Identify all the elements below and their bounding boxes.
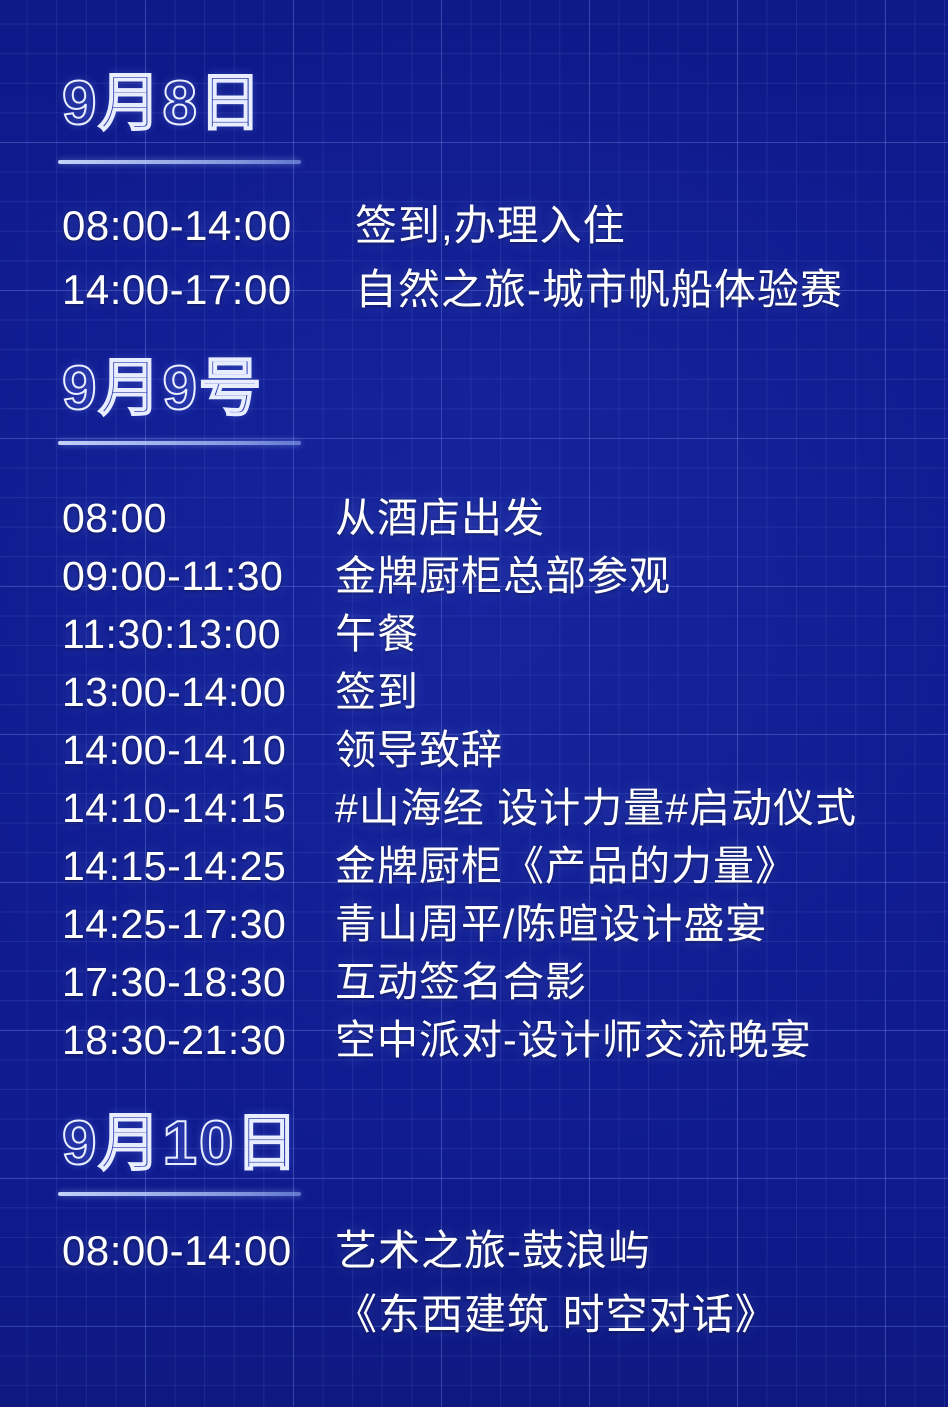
row-event: 从酒店出发	[335, 484, 545, 544]
row-time: 09:00-11:30	[62, 553, 335, 600]
row-time: 08:00-14:00	[62, 1227, 335, 1275]
schedule-poster: 9月8日 08:00-14:00 签到,办理入住 14:00-17:00 自然之…	[0, 0, 948, 1407]
row-event: 青山周平/陈暄设计盛宴	[335, 890, 767, 950]
row-event: 《东西建筑 时空对话》	[335, 1281, 778, 1342]
row-time: 14:10-14:15	[62, 785, 335, 832]
schedule-row: 14:00-17:00 自然之旅-城市帆船体验赛	[62, 256, 843, 317]
schedule-row: 《东西建筑 时空对话》	[62, 1281, 778, 1342]
schedule-row: 14:10-14:15 #山海经 设计力量#启动仪式	[62, 774, 857, 834]
day-heading-sept-8: 9月8日	[62, 52, 263, 142]
row-event: #山海经 设计力量#启动仪式	[335, 774, 857, 834]
row-event: 金牌厨柜《产品的力量》	[335, 832, 797, 892]
divider-sept-10	[58, 1192, 301, 1196]
schedule-row: 08:00-14:00 艺术之旅-鼓浪屿	[62, 1217, 651, 1278]
day-heading-sept-9: 9月9号	[62, 337, 263, 427]
schedule-row: 13:00-14:00 签到	[62, 658, 419, 718]
row-event: 自然之旅-城市帆船体验赛	[355, 256, 843, 317]
schedule-row: 14:15-14:25 金牌厨柜《产品的力量》	[62, 832, 797, 892]
row-event: 空中派对-设计师交流晚宴	[335, 1006, 812, 1066]
row-event: 艺术之旅-鼓浪屿	[335, 1217, 651, 1278]
row-time: 08:00-14:00	[62, 202, 355, 250]
row-time: 17:30-18:30	[62, 959, 335, 1006]
schedule-row: 14:00-14.10 领导致辞	[62, 716, 503, 776]
schedule-row: 18:30-21:30 空中派对-设计师交流晚宴	[62, 1006, 812, 1066]
row-time: 14:00-17:00	[62, 266, 355, 314]
row-event: 互动签名合影	[335, 948, 587, 1008]
schedule-row: 17:30-18:30 互动签名合影	[62, 948, 587, 1008]
row-time: 18:30-21:30	[62, 1017, 335, 1064]
row-time: 14:25-17:30	[62, 901, 335, 948]
schedule-row: 08:00 从酒店出发	[62, 484, 545, 544]
row-event: 领导致辞	[335, 716, 503, 776]
divider-sept-9	[58, 441, 301, 445]
day-heading-sept-10: 9月10日	[62, 1092, 299, 1182]
schedule-row: 08:00-14:00 签到,办理入住	[62, 192, 626, 253]
row-event: 午餐	[335, 600, 419, 660]
row-time: 11:30:13:00	[62, 611, 335, 658]
schedule-row: 09:00-11:30 金牌厨柜总部参观	[62, 542, 671, 602]
row-time: 13:00-14:00	[62, 669, 335, 716]
divider-sept-8	[58, 160, 301, 164]
row-time: 14:15-14:25	[62, 843, 335, 890]
schedule-row: 11:30:13:00 午餐	[62, 600, 419, 660]
row-time: 14:00-14.10	[62, 727, 335, 774]
row-time: 08:00	[62, 495, 335, 542]
row-event: 签到	[335, 658, 419, 718]
row-event: 金牌厨柜总部参观	[335, 542, 671, 602]
schedule-row: 14:25-17:30 青山周平/陈暄设计盛宴	[62, 890, 767, 950]
row-event: 签到,办理入住	[355, 192, 626, 253]
